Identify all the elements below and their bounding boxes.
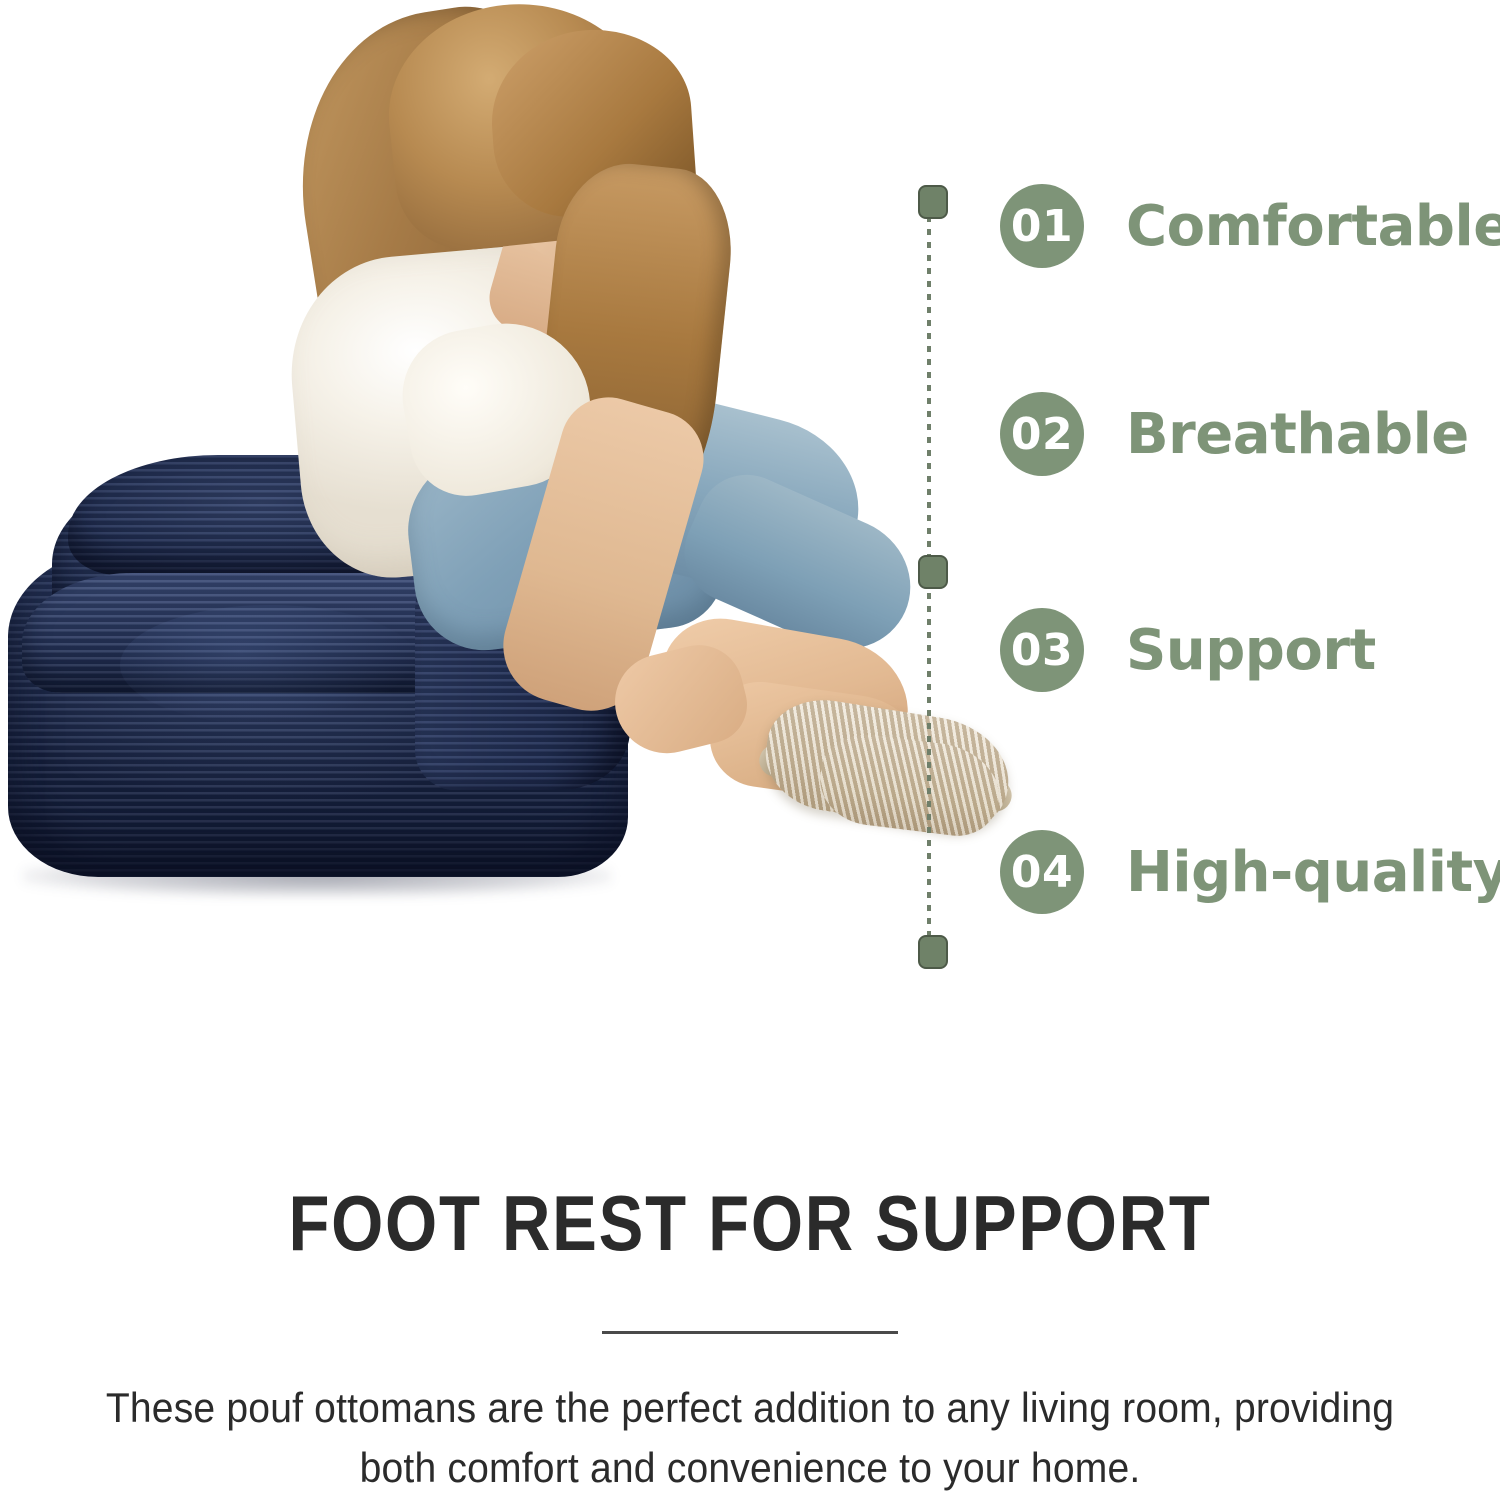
timeline-marker-bottom [918,935,948,969]
model-figure [230,0,970,870]
feature-item-1: 01 Comfortable [1000,184,1500,268]
hero-product-image: 01 Comfortable 02 Breathable 03 Support … [0,0,1500,1010]
feature-label-4: High-quality [1126,840,1500,905]
feature-item-2: 02 Breathable [1000,392,1469,476]
feature-number-badge-3: 03 [1000,608,1084,692]
feature-number-badge-2: 02 [1000,392,1084,476]
feature-label-1: Comfortable [1126,194,1500,259]
feature-list: 01 Comfortable 02 Breathable 03 Support … [900,170,1500,970]
headline-divider [602,1331,898,1334]
feature-number-badge-1: 01 [1000,184,1084,268]
feature-label-2: Breathable [1126,402,1469,467]
timeline-marker-top [918,185,948,219]
page-subcopy: These pouf ottomans are the perfect addi… [90,1378,1411,1497]
feature-item-4: 04 High-quality [1000,830,1500,914]
feature-number-badge-4: 04 [1000,830,1084,914]
feature-item-3: 03 Support [1000,608,1376,692]
timeline-marker-middle [918,555,948,589]
feature-label-3: Support [1126,618,1376,683]
page-headline: FOOT REST FOR SUPPORT [105,1178,1395,1269]
